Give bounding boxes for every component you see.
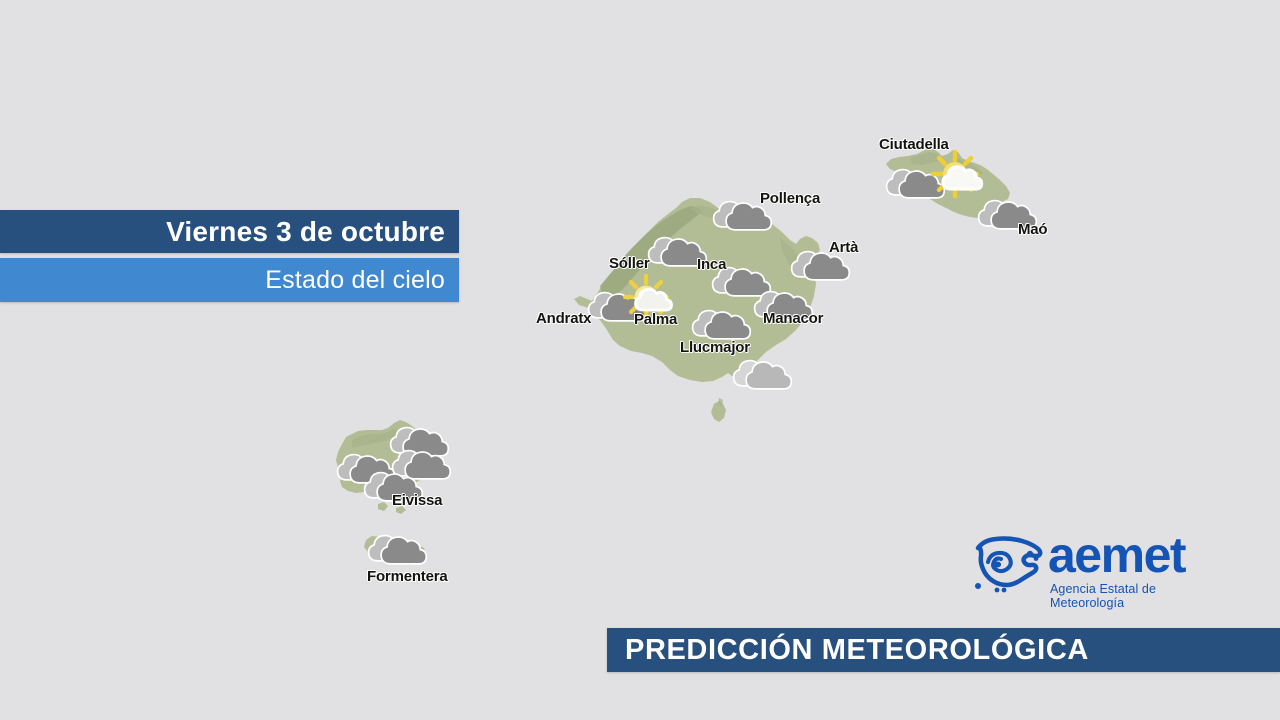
forecast-subtitle-bar: Estado del cielo: [0, 258, 459, 302]
weather-icon-formentera: [368, 530, 424, 570]
forecast-date-text: Viernes 3 de octubre: [166, 216, 445, 248]
weather-icon-mallorca-southeast: [733, 355, 789, 395]
city-label-mao: Maó: [1018, 221, 1047, 238]
forecast-banner-title: PREDICCIÓN METEOROLÓGICA: [625, 634, 1089, 667]
aemet-logo: aemet Agencia Estatal de Meteorología: [972, 532, 1220, 598]
city-label-eivissa: Eivissa: [392, 492, 442, 509]
forecast-date-bar: Viernes 3 de octubre: [0, 210, 459, 253]
aemet-tagline: Agencia Estatal de Meteorología: [1050, 582, 1220, 610]
city-label-inca: Inca: [697, 256, 726, 273]
city-label-andratx: Andratx: [536, 310, 591, 327]
city-label-arta: Artà: [829, 239, 858, 256]
city-label-palma: Palma: [634, 311, 677, 328]
city-label-llucmajor: Llucmajor: [680, 339, 750, 356]
weather-icon-soller: [648, 232, 704, 272]
city-label-pollenca: Pollença: [760, 190, 820, 207]
city-label-soller: Sóller: [609, 255, 649, 272]
city-label-manacor: Manacor: [763, 310, 823, 327]
aemet-wordmark: aemet: [1048, 530, 1185, 580]
city-label-ciutadella: Ciutadella: [879, 136, 949, 153]
forecast-subtitle-text: Estado del cielo: [265, 266, 445, 295]
weather-forecast-screen: Pollença Sóller Inca Artà Andratx Palma …: [0, 0, 1280, 720]
balearic-islands-map: [0, 0, 1280, 720]
forecast-banner: PREDICCIÓN METEOROLÓGICA: [607, 628, 1280, 672]
city-label-formentera: Formentera: [367, 568, 448, 585]
island-cabrera: [711, 398, 726, 422]
spain-isobar-spiral-icon: [972, 534, 1044, 596]
